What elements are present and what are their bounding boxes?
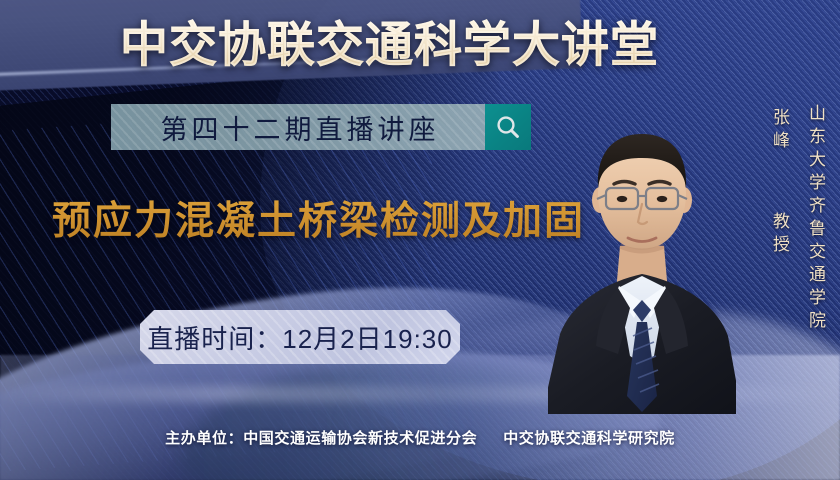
page-title: 中交协联交通科学大讲堂 — [120, 16, 659, 76]
speaker-role: 教授 — [767, 212, 792, 258]
broadcast-time-text: 直播时间：12月2日19:30 — [147, 319, 452, 356]
broadcast-time-banner: 直播时间：12月2日19:30 — [140, 310, 460, 364]
lecture-title: 预应力混凝土桥梁检测及加固 — [52, 190, 585, 246]
footer-organizer-1: 中国交通运输协会新技术促进分会 — [243, 430, 477, 447]
search-icon[interactable] — [485, 104, 531, 150]
speaker-portrait — [548, 96, 736, 414]
episode-label: 第四十二期直播讲座 — [157, 108, 440, 147]
speaker-name: 张峰 — [767, 108, 792, 154]
speaker-organization: 山东大学齐鲁交通学院 — [803, 104, 828, 334]
episode-bar: 第四十二期直播讲座 — [111, 104, 531, 150]
footer-prefix: 主办单位： — [165, 430, 243, 447]
footer-organizer-2: 中交协联交通科学研究院 — [503, 430, 675, 447]
poster-canvas: 山东大学齐鲁交通学院 张峰 教授 中交协联交通科学大讲堂 第四十二期直播讲座 预… — [0, 0, 840, 480]
footer-organizers: 主办单位：中国交通运输协会新技术促进分会中交协联交通科学研究院 — [0, 427, 840, 448]
episode-bar-panel: 第四十二期直播讲座 — [111, 104, 485, 150]
